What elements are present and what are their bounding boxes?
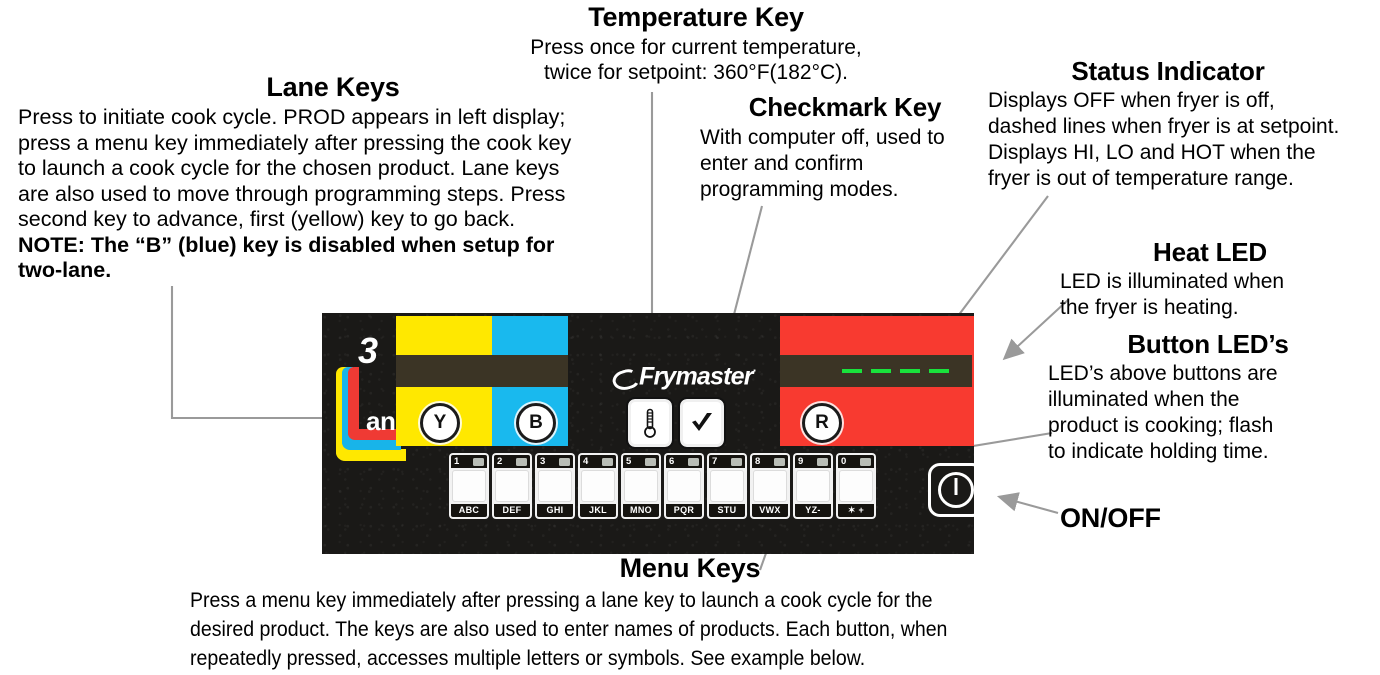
button-led-icon — [817, 458, 828, 466]
menu-key-2[interactable]: 2 DEF — [492, 453, 532, 519]
menu-key-number: 8 — [755, 457, 760, 467]
menu-keys-row: 1 ABC 2 DEF 3 — [449, 453, 876, 519]
callout-body-button-leds: LED’s above buttons are illuminated when… — [1048, 359, 1368, 465]
red-lane-key[interactable]: R — [802, 403, 842, 443]
swoosh-icon — [610, 366, 641, 393]
text-line: Displays OFF when fryer is off, — [988, 88, 1348, 114]
menu-key-number: 6 — [669, 457, 674, 467]
menu-key-header: 9 — [795, 455, 831, 468]
status-dashes — [842, 369, 949, 373]
text-line: Press to initiate cook cycle. PROD appea… — [18, 105, 648, 131]
dash-segment — [929, 369, 949, 373]
text-line: Press once for current temperature, — [516, 35, 876, 60]
menu-key-number: 0 — [841, 457, 846, 467]
text-line: to indicate holding time. — [1048, 439, 1368, 465]
callout-body-menu-keys: Press a menu key immediately after press… — [190, 584, 1120, 673]
menu-key-footer: YZ- — [795, 504, 831, 517]
menu-key-header: 0 — [838, 455, 874, 468]
menu-key-5[interactable]: 5 MNO — [621, 453, 661, 519]
callout-body-temperature-key: Press once for current temperature, twic… — [516, 32, 876, 85]
menu-key-face[interactable] — [624, 470, 658, 502]
right-display — [780, 355, 972, 387]
checkmark-icon — [689, 410, 715, 436]
menu-key-0[interactable]: 0 ✶ + — [836, 453, 876, 519]
callout-body-checkmark-key: With computer off, used to enter and con… — [700, 122, 990, 203]
button-led-icon — [860, 458, 871, 466]
menu-key-header: 1 — [451, 455, 487, 468]
menu-key-letters: PQR — [674, 506, 694, 515]
menu-key-face[interactable] — [667, 470, 701, 502]
text-line: Displays HI, LO and HOT when the — [988, 140, 1348, 166]
menu-key-3[interactable]: 3 GHI — [535, 453, 575, 519]
menu-key-header: 6 — [666, 455, 702, 468]
callout-status-indicator: Status Indicator Displays OFF when fryer… — [988, 57, 1348, 192]
text-line: second key to advance, first (yellow) ke… — [18, 207, 648, 233]
callout-title-checkmark-key: Checkmark Key — [700, 93, 990, 122]
menu-key-6[interactable]: 6 PQR — [664, 453, 704, 519]
callout-lane-keys: Lane Keys Press to initiate cook cycle. … — [18, 72, 648, 284]
text-line-note: NOTE: The “B” (blue) key is disabled whe… — [18, 233, 648, 259]
menu-key-letters: VWX — [759, 506, 780, 515]
callout-on-off: ON/OFF — [1060, 503, 1161, 533]
menu-key-letters: YZ- — [805, 506, 820, 515]
callout-temperature-key: Temperature Key Press once for current t… — [516, 2, 876, 85]
temperature-key[interactable] — [628, 399, 672, 447]
button-led-icon — [688, 458, 699, 466]
callout-heat-led: Heat LED LED is illuminated when the fry… — [1060, 238, 1360, 321]
leader-on-off — [1000, 497, 1058, 513]
menu-key-8[interactable]: 8 VWX — [750, 453, 790, 519]
registered-mark: · — [753, 363, 757, 378]
menu-key-7[interactable]: 7 STU — [707, 453, 747, 519]
button-led-icon — [731, 458, 742, 466]
menu-key-footer: GHI — [537, 504, 573, 517]
button-led-icon — [559, 458, 570, 466]
menu-key-letters: ✶ + — [848, 506, 864, 515]
yellow-lane-key[interactable]: Y — [420, 403, 460, 443]
text-line: twice for setpoint: 360°F(182°C). — [516, 60, 876, 85]
menu-key-number: 4 — [583, 457, 588, 467]
text-line: repeatedly pressed, accesses multiple le… — [190, 644, 1120, 673]
text-line: press a menu key immediately after press… — [18, 131, 648, 157]
button-led-icon — [473, 458, 484, 466]
menu-key-9[interactable]: 9 YZ- — [793, 453, 833, 519]
dash-segment — [842, 369, 862, 373]
text-line: LED is illuminated when — [1060, 269, 1360, 295]
left-display — [396, 355, 568, 387]
menu-key-number: 1 — [454, 457, 459, 467]
button-led-icon — [516, 458, 527, 466]
text-line: to launch a cook cycle for the chosen pr… — [18, 156, 648, 182]
menu-key-face[interactable] — [753, 470, 787, 502]
menu-key-number: 7 — [712, 457, 717, 467]
text-line: LED’s above buttons are — [1048, 361, 1368, 387]
callout-button-leds: Button LED’s LED’s above buttons are ill… — [1048, 330, 1368, 465]
menu-key-number: 5 — [626, 457, 631, 467]
callout-body-status-indicator: Displays OFF when fryer is off, dashed l… — [988, 86, 1348, 192]
menu-key-number: 3 — [540, 457, 545, 467]
menu-key-header: 3 — [537, 455, 573, 468]
frymaster-brand-logo: Frymaster· — [612, 358, 756, 389]
menu-key-letters: JKL — [589, 506, 607, 515]
menu-key-letters: MNO — [630, 506, 652, 515]
menu-key-header: 7 — [709, 455, 745, 468]
menu-key-header: 5 — [623, 455, 659, 468]
menu-key-number: 9 — [798, 457, 803, 467]
menu-key-face[interactable] — [796, 470, 830, 502]
menu-key-1[interactable]: 1 ABC — [449, 453, 489, 519]
text-line: are also used to move through programmin… — [18, 182, 648, 208]
menu-key-header: 8 — [752, 455, 788, 468]
menu-key-footer: JKL — [580, 504, 616, 517]
text-line: product is cooking; flash — [1048, 413, 1368, 439]
power-icon — [938, 472, 974, 508]
button-led-icon — [602, 458, 613, 466]
menu-key-footer: STU — [709, 504, 745, 517]
callout-title-button-leds: Button LED’s — [1048, 330, 1368, 359]
menu-key-4[interactable]: 4 JKL — [578, 453, 618, 519]
menu-key-footer: VWX — [752, 504, 788, 517]
menu-key-face[interactable] — [538, 470, 572, 502]
menu-key-letters: GHI — [547, 506, 564, 515]
menu-key-face[interactable] — [452, 470, 486, 502]
text-line: With computer off, used to — [700, 125, 990, 151]
button-led-icon — [774, 458, 785, 466]
menu-key-footer: ✶ + — [838, 504, 874, 517]
menu-key-letters: ABC — [459, 506, 479, 515]
menu-key-footer: ABC — [451, 504, 487, 517]
callout-title-temperature-key: Temperature Key — [516, 2, 876, 32]
callout-body-lane-keys: Press to initiate cook cycle. PROD appea… — [18, 102, 648, 284]
text-line: the fryer is heating. — [1060, 295, 1360, 321]
callout-title-status-indicator: Status Indicator — [988, 57, 1348, 86]
callout-body-heat-led: LED is illuminated when the fryer is hea… — [1060, 267, 1360, 321]
fryer-control-panel: 3 ane Y B R Frymaster· — [322, 313, 974, 554]
menu-key-face[interactable] — [581, 470, 615, 502]
callout-title-heat-led: Heat LED — [1060, 238, 1360, 267]
menu-key-number: 2 — [497, 457, 502, 467]
text-line-note: two-lane. — [18, 258, 648, 284]
dash-segment — [871, 369, 891, 373]
menu-key-face[interactable] — [839, 470, 873, 502]
menu-key-face[interactable] — [710, 470, 744, 502]
callout-title-menu-keys: Menu Keys — [190, 552, 1190, 584]
menu-key-footer: PQR — [666, 504, 702, 517]
callout-checkmark-key: Checkmark Key With computer off, used to… — [700, 93, 990, 203]
menu-key-footer: DEF — [494, 504, 530, 517]
thermometer-icon — [642, 408, 658, 438]
button-led-icon — [645, 458, 656, 466]
illustration-stage: Lane Keys Press to initiate cook cycle. … — [0, 0, 1380, 675]
power-on-off-button[interactable] — [928, 463, 974, 517]
menu-key-letters: STU — [718, 506, 737, 515]
text-line: enter and confirm — [700, 151, 990, 177]
text-line: Press a menu key immediately after press… — [190, 586, 1120, 615]
menu-key-header: 2 — [494, 455, 530, 468]
text-line: programming modes. — [700, 177, 990, 203]
logo-digit: 3 — [358, 333, 378, 369]
menu-key-face[interactable] — [495, 470, 529, 502]
menu-key-footer: MNO — [623, 504, 659, 517]
dash-segment — [900, 369, 920, 373]
text-line: desired product. The keys are also used … — [190, 615, 1120, 644]
text-line: fryer is out of temperature range. — [988, 166, 1348, 192]
menu-key-header: 4 — [580, 455, 616, 468]
checkmark-key[interactable] — [680, 399, 724, 447]
brand-name: Frymaster — [639, 362, 753, 390]
text-line: illuminated when the — [1048, 387, 1368, 413]
blue-lane-key[interactable]: B — [516, 403, 556, 443]
power-icon-bar — [955, 478, 958, 495]
callout-title-on-off: ON/OFF — [1060, 503, 1161, 533]
callout-menu-keys: Menu Keys Press a menu key immediately a… — [190, 552, 1190, 673]
menu-key-letters: DEF — [503, 506, 522, 515]
text-line: dashed lines when fryer is at setpoint. — [988, 114, 1348, 140]
